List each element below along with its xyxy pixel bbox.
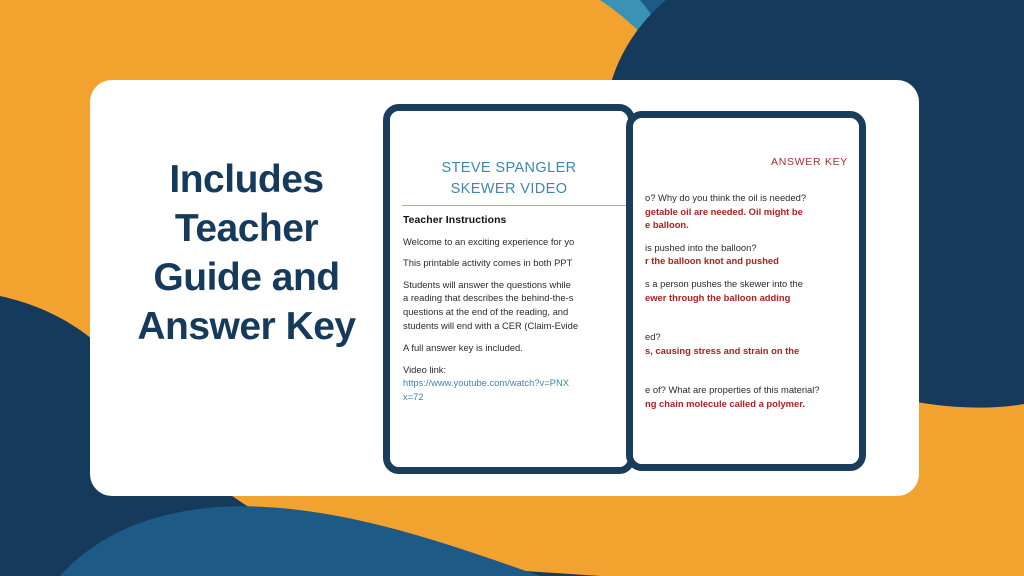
answer-key-item: o? Why do you think the oil is needed? g… (645, 191, 866, 232)
teacher-guide-inner: STEVE SPANGLER SKEWER VIDEO Teacher Inst… (390, 111, 628, 467)
slide-canvas: Includes Teacher Guide and Answer Key ST… (0, 0, 1024, 576)
answer-key-item: ed? s, causing stress and strain on the (645, 330, 866, 357)
video-link-label: Video link: (403, 363, 635, 377)
answer-key-answer: ng chain molecule called a polymer. (645, 397, 866, 411)
answer-key-item: s a person pushes the skewer into the ew… (645, 277, 866, 304)
answer-key-badge: ANSWER KEY (771, 156, 848, 168)
teacher-guide-paragraph-1: Welcome to an exciting experience for yo (403, 235, 635, 249)
answer-key-question: is pushed into the balloon? (645, 241, 866, 255)
answer-key-question: e of? What are properties of this materi… (645, 383, 866, 397)
answer-key-question: s a person pushes the skewer into the (645, 277, 866, 291)
answer-key-answer: r the balloon knot and pushed (645, 254, 866, 268)
wave-bottom-midblue (60, 506, 540, 576)
page-title: Includes Teacher Guide and Answer Key (104, 155, 389, 351)
answer-key-question: ed? (645, 330, 866, 344)
teacher-instructions-heading: Teacher Instructions (403, 214, 635, 228)
answer-key-inner: ANSWER KEY o? Why do you think the oil i… (633, 118, 859, 464)
teacher-guide-paragraph-3: Students will answer the questions while… (403, 278, 635, 332)
answer-key-item: e of? What are properties of this materi… (645, 383, 866, 410)
teacher-guide-page[interactable]: STEVE SPANGLER SKEWER VIDEO Teacher Inst… (383, 104, 635, 474)
teacher-guide-body: Teacher Instructions Welcome to an excit… (403, 214, 635, 412)
teacher-guide-title: STEVE SPANGLER SKEWER VIDEO (390, 158, 628, 200)
video-link-url[interactable]: https://www.youtube.com/watch?v=PNX x=72 (403, 376, 635, 403)
answer-key-item: is pushed into the balloon? r the balloo… (645, 241, 866, 268)
answer-key-body: o? Why do you think the oil is needed? g… (645, 191, 866, 420)
teacher-guide-divider (402, 205, 630, 206)
answer-key-answer: getable oil are needed. Oil might be e b… (645, 205, 866, 232)
answer-key-answer: ewer through the balloon adding (645, 291, 866, 305)
answer-key-question: o? Why do you think the oil is needed? (645, 191, 866, 205)
teacher-guide-paragraph-2: This printable activity comes in both PP… (403, 256, 635, 270)
teacher-guide-paragraph-4: A full answer key is included. (403, 341, 635, 355)
answer-key-page[interactable]: ANSWER KEY o? Why do you think the oil i… (626, 111, 866, 471)
answer-key-answer: s, causing stress and strain on the (645, 344, 866, 358)
wave-bottom-teal (0, 300, 93, 576)
